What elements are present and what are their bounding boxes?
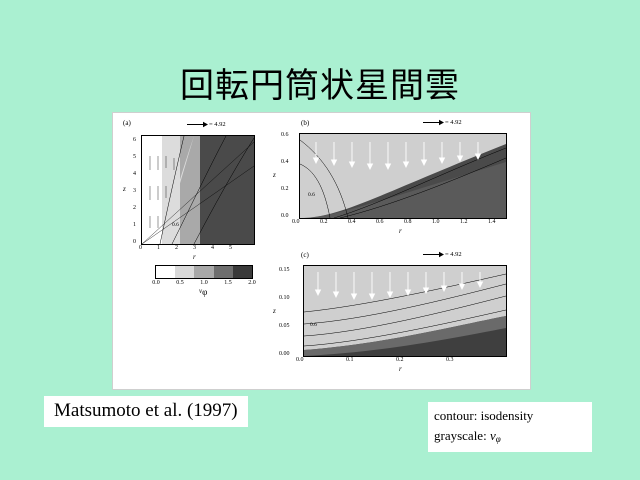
panel-a-xtick-3: 3 [193,245,196,251]
panel-a-arrow-key: = 4.92 [187,121,226,128]
panel-a: (a) = 4.92 [119,117,269,277]
vector-arrow-icon [423,251,445,258]
legend-box: contour: isodensity grayscale: vφ [428,402,592,452]
panel-a-ytick-6: 6 [133,137,136,143]
panel-b-xtick-5: 1.0 [432,219,440,225]
panel-b-xtick-7: 1.4 [488,219,496,225]
panel-c-ytick-1: 0.05 [279,323,290,329]
colorbar-tick-4: 2.0 [248,280,256,286]
panel-a-xtick-4: 4 [211,245,214,251]
colorbar-label: vφ [199,287,207,297]
panel-c: (c) = 4.92 [273,249,525,385]
citation-text: Matsumoto et al. (1997) [44,396,248,427]
panel-c-xlabel: r [399,365,402,373]
colorbar-tick-3: 1.5 [224,280,232,286]
panel-c-tag: (c) [301,251,309,259]
panel-b-xtick-1: 0.2 [320,219,328,225]
panel-a-xlabel: r [193,253,196,261]
panel-b-xtick-6: 1.2 [460,219,468,225]
panel-b-tag: (b) [301,119,309,127]
panel-c-plot: 0.6 [303,265,507,357]
panel-a-ylabel: z [123,185,126,193]
vector-arrow-icon [187,121,209,128]
panel-b-ytick-2: 0.4 [281,159,289,165]
panel-a-ytick-5: 5 [133,154,136,160]
panel-b-contour-label: 0.6 [308,192,315,198]
panel-c-contours [304,266,506,356]
panel-b-ytick-1: 0.2 [281,186,289,192]
panel-b-xtick-3: 0.6 [376,219,384,225]
panel-b-plot: 0.6 [299,133,507,219]
panel-b-arrow-key: = 4.92 [423,119,462,126]
panel-a-ytick-1: 1 [133,222,136,228]
vector-arrow-icon [423,119,445,126]
panel-a-ytick-4: 4 [133,171,136,177]
legend-line-grayscale: grayscale: vφ [434,426,586,447]
panel-a-xtick-0: 0 [139,245,142,251]
colorbar-tick-0: 0.0 [152,280,160,286]
panel-c-xtick-0: 0.0 [296,357,304,363]
panel-a-xtick-1: 1 [157,245,160,251]
panel-c-contour-label: 0.6 [310,322,317,328]
panel-b-ytick-0: 0.0 [281,213,289,219]
colorbar-tick-1: 0.5 [176,280,184,286]
panel-b-xtick-4: 0.8 [404,219,412,225]
panel-a-contour-label: 0.6 [172,222,179,228]
panel-c-arrow-key: = 4.92 [423,251,462,258]
panel-b-xtick-0: 0.0 [292,219,300,225]
panel-a-ytick-2: 2 [133,205,136,211]
legend-line-contour: contour: isodensity [434,406,586,426]
panel-a-tag: (a) [123,119,131,127]
figure-image: (a) = 4.92 [112,112,531,390]
colorbar: 0.0 0.5 1.0 1.5 2.0 [155,265,253,279]
colorbar-tick-2: 1.0 [200,280,208,286]
panel-c-xtick-1: 0.1 [346,357,354,363]
panel-a-xtick-5: 5 [229,245,232,251]
panel-c-xtick-2: 0.2 [396,357,404,363]
panel-a-ytick-3: 3 [133,188,136,194]
panel-c-ytick-0: 0.00 [279,351,290,357]
panel-a-ytick-0: 0 [133,239,136,245]
panel-b-xlabel: r [399,227,402,235]
panel-c-ytick-2: 0.10 [279,295,290,301]
panel-c-ylabel: z [273,307,276,315]
panel-b-ytick-3: 0.6 [281,132,289,138]
panel-c-xtick-3: 0.3 [446,357,454,363]
panel-b: (b) = 4.92 [273,117,525,247]
panel-a-plot: 0.6 [141,135,255,245]
panel-b-ylabel: z [273,171,276,179]
panel-c-ytick-3: 0.15 [279,267,290,273]
panel-a-contours [142,136,254,244]
panel-a-xtick-2: 2 [175,245,178,251]
panel-b-xtick-2: 0.4 [348,219,356,225]
panel-b-contours [300,134,506,218]
slide-title: 回転円筒状星間雲 [0,58,640,107]
